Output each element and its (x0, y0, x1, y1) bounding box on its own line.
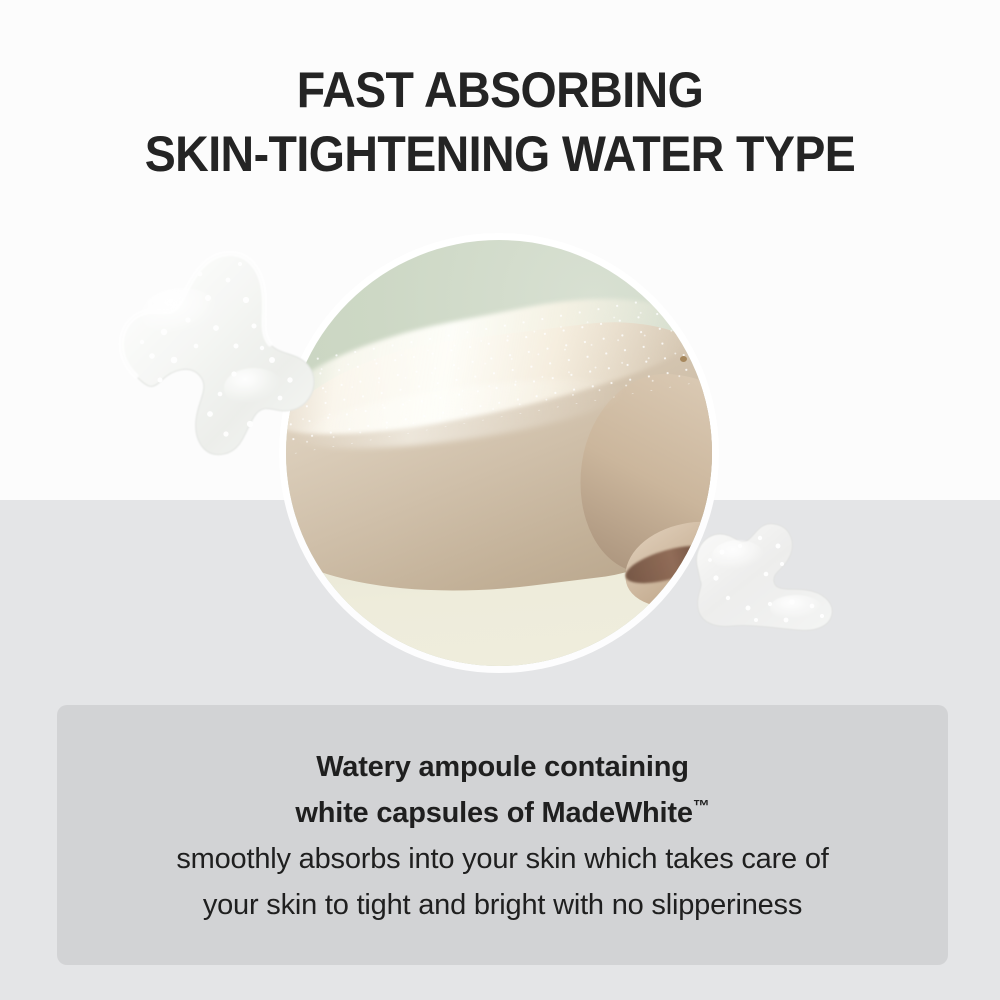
caption-bold-line-2: white capsules of MadeWhite™ (57, 791, 948, 837)
product-feature-panel: FAST ABSORBING SKIN-TIGHTENING WATER TYP… (0, 0, 1000, 1000)
hand-mole (680, 356, 687, 362)
caption-bold-line-1: Watery ampoule containing (57, 745, 948, 791)
hero-circle-image (286, 240, 712, 666)
gel-swatch-left (104, 228, 344, 468)
hand-illustration (286, 291, 712, 615)
headline-line-2: SKIN-TIGHTENING WATER TYPE (35, 126, 965, 182)
caption-panel: Watery ampoule containing white capsules… (57, 705, 948, 965)
headline-line-1: FAST ABSORBING (35, 62, 965, 118)
caption-brand-text: white capsules of MadeWhite (295, 797, 692, 829)
trademark-symbol: ™ (693, 797, 710, 816)
caption-regular-line-1: smoothly absorbs into your skin which ta… (57, 837, 948, 883)
caption-regular-line-2: your skin to tight and bright with no sl… (57, 883, 948, 929)
headline: FAST ABSORBING SKIN-TIGHTENING WATER TYP… (0, 62, 1000, 182)
gel-swatch-right (686, 512, 846, 644)
